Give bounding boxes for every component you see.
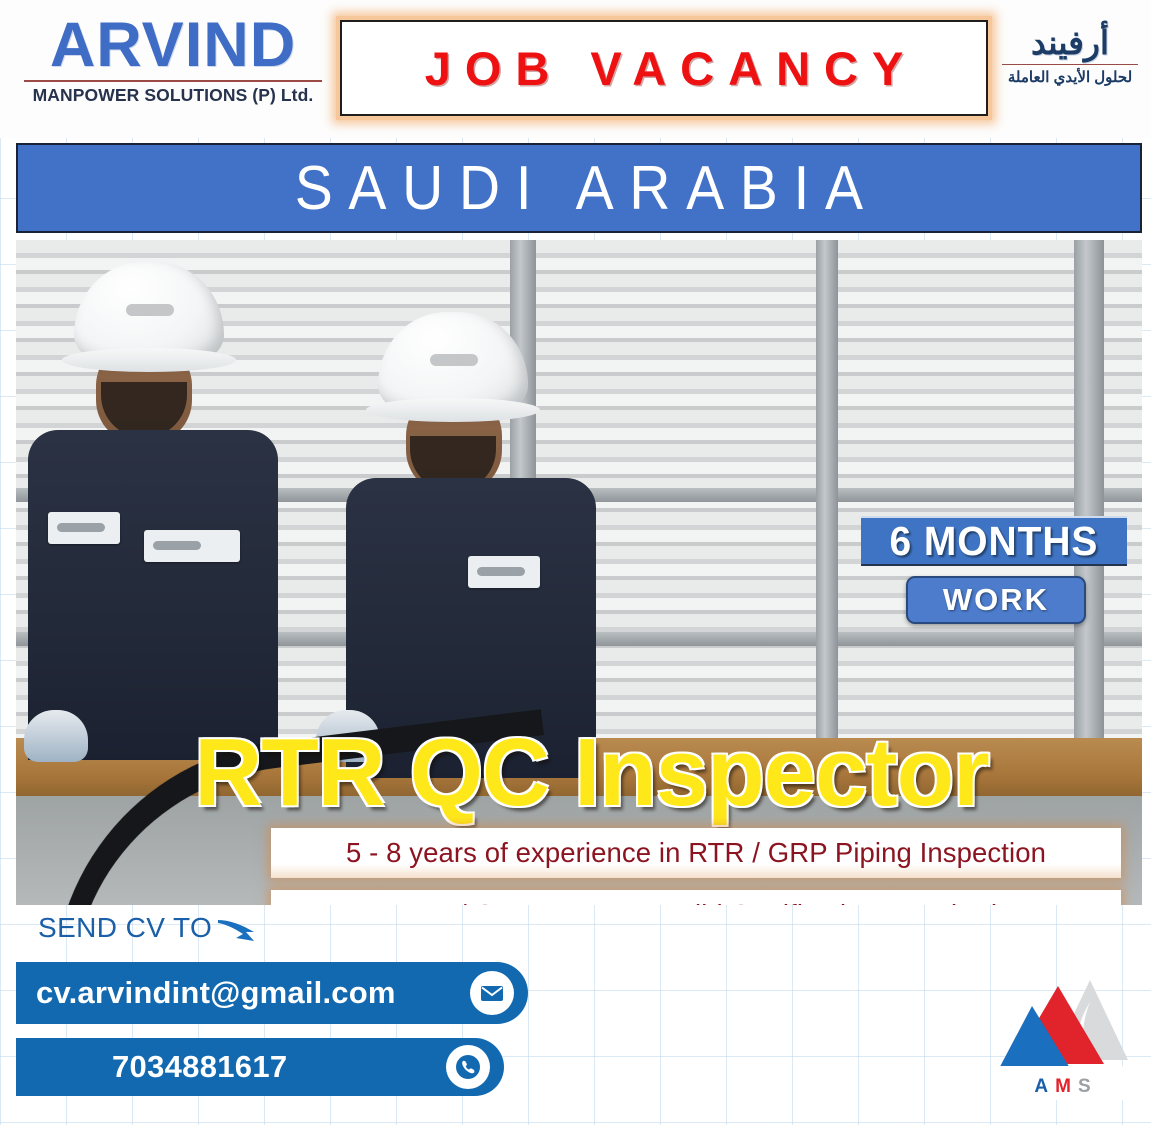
ams-letter-a: A [1034, 1076, 1055, 1097]
duration-text: 6 MONTHS [890, 518, 1099, 565]
worker-left-name-patch [48, 512, 120, 544]
company-name: ARVIND [18, 16, 328, 76]
arrow-right-icon [216, 916, 258, 946]
job-title: RTR QC Inspector [28, 718, 1142, 828]
arabic-tagline: لحلول الأيدي العاملة [996, 68, 1144, 86]
envelope-icon [470, 971, 514, 1015]
phone-number[interactable]: 7034881617 [112, 1049, 287, 1085]
country-name: SAUDI ARABIA [279, 153, 879, 224]
arabic-logo: أرفيند لحلول الأيدي العاملة [996, 24, 1144, 86]
job-vacancy-poster: ARVIND MANPOWER SOLUTIONS (P) Ltd. JOB V… [0, 0, 1151, 1125]
duration-badge: 6 MONTHS [861, 516, 1127, 566]
hardhat-logo [126, 304, 174, 316]
ams-logo: AMS [1000, 968, 1132, 1100]
wall-beam [816, 240, 838, 760]
ams-letter-s: S [1078, 1076, 1098, 1097]
work-badge: WORK [906, 576, 1086, 624]
phone-contact-bar[interactable]: 7034881617 [16, 1038, 504, 1096]
arvind-logo: ARVIND MANPOWER SOLUTIONS (P) Ltd. [18, 16, 328, 106]
worker-right-patch [468, 556, 540, 588]
send-cv-label: SEND CV TO [38, 912, 212, 944]
requirement-experience-text: 5 - 8 years of experience in RTR / GRP P… [346, 837, 1046, 869]
company-tagline: MANPOWER SOLUTIONS (P) Ltd. [18, 85, 328, 106]
email-contact-bar[interactable]: cv.arvindint@gmail.com [16, 962, 528, 1024]
phone-icon [446, 1045, 490, 1089]
requirement-bar-experience: 5 - 8 years of experience in RTR / GRP P… [271, 828, 1121, 878]
send-cv-block: SEND CV TO [38, 910, 258, 946]
arabic-logo-divider [1002, 64, 1138, 66]
poster-header: ARVIND MANPOWER SOLUTIONS (P) Ltd. JOB V… [0, 0, 1151, 138]
email-address[interactable]: cv.arvindint@gmail.com [36, 975, 396, 1011]
requirement-certification-text: RTR / GRP Inspector Valid Certification … [395, 899, 997, 905]
job-vacancy-banner: JOB VACANCY [336, 16, 992, 120]
wall-beam [1074, 240, 1104, 760]
ams-letters: AMS [1000, 1076, 1132, 1098]
logo-divider [24, 80, 322, 82]
job-vacancy-box: JOB VACANCY [340, 20, 988, 116]
country-banner: SAUDI ARABIA [16, 143, 1142, 233]
worksite-photo: 6 MONTHS WORK RTR QC Inspector 5 - 8 yea… [16, 240, 1142, 905]
requirement-bar-certification: RTR / GRP Inspector Valid Certification … [271, 890, 1121, 905]
worker-left-company-patch [144, 530, 240, 562]
hardhat-logo [430, 354, 478, 366]
job-vacancy-text: JOB VACANCY [411, 41, 918, 96]
arabic-company-name: أرفيند [996, 24, 1144, 62]
work-badge-text: WORK [943, 582, 1049, 618]
ams-letter-m: M [1055, 1076, 1078, 1097]
